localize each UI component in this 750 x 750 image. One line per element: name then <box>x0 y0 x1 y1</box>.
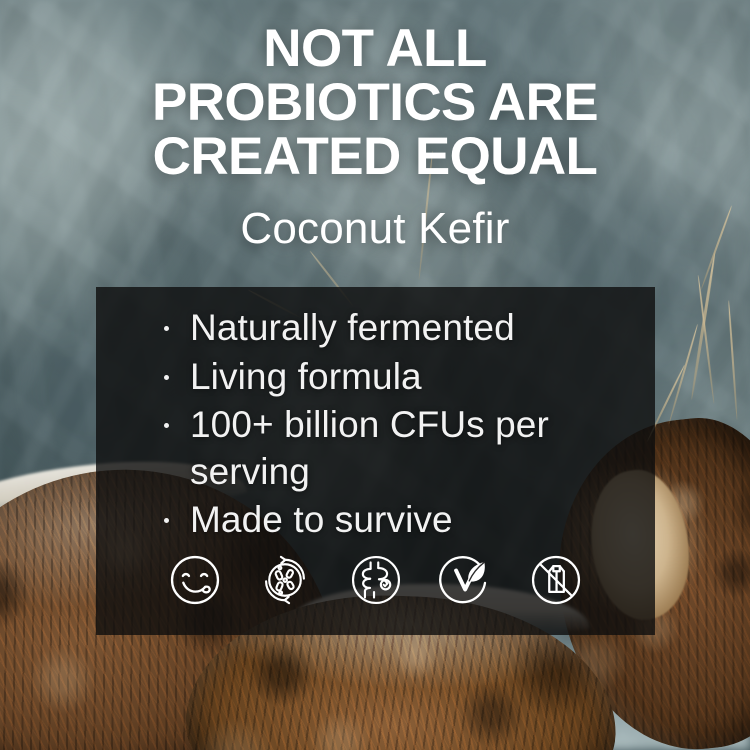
list-item: Naturally fermented <box>162 305 631 352</box>
benefit-text: Naturally fermented <box>190 307 515 348</box>
subtitle-product-name: Coconut Kefir <box>0 204 750 254</box>
tasty-smiley-icon <box>168 553 222 607</box>
benefit-text: Living formula <box>190 356 422 397</box>
list-item: Made to survive <box>162 497 631 544</box>
headline-line-2: PROBIOTICS ARE <box>36 76 714 130</box>
gut-health-icon <box>349 553 403 607</box>
headline-line-3: CREATED EQUAL <box>36 130 714 184</box>
feature-icon-row <box>168 553 583 607</box>
benefits-list: Naturally fermented Living formula 100+ … <box>162 305 631 546</box>
headline: NOT ALL PROBIOTICS ARE CREATED EQUAL <box>0 22 750 184</box>
promo-graphic: NOT ALL PROBIOTICS ARE CREATED EQUAL Coc… <box>0 0 750 750</box>
dairy-free-icon <box>529 553 583 607</box>
live-cultures-icon <box>258 553 312 607</box>
benefits-panel: Naturally fermented Living formula 100+ … <box>96 287 655 635</box>
list-item: 100+ billion CFUs per serving <box>162 402 631 495</box>
benefit-text: Made to survive <box>190 499 453 540</box>
headline-line-1: NOT ALL <box>36 22 714 76</box>
vegan-icon <box>439 553 493 607</box>
list-item: Living formula <box>162 354 631 401</box>
benefit-text: 100+ billion CFUs per serving <box>190 404 549 492</box>
